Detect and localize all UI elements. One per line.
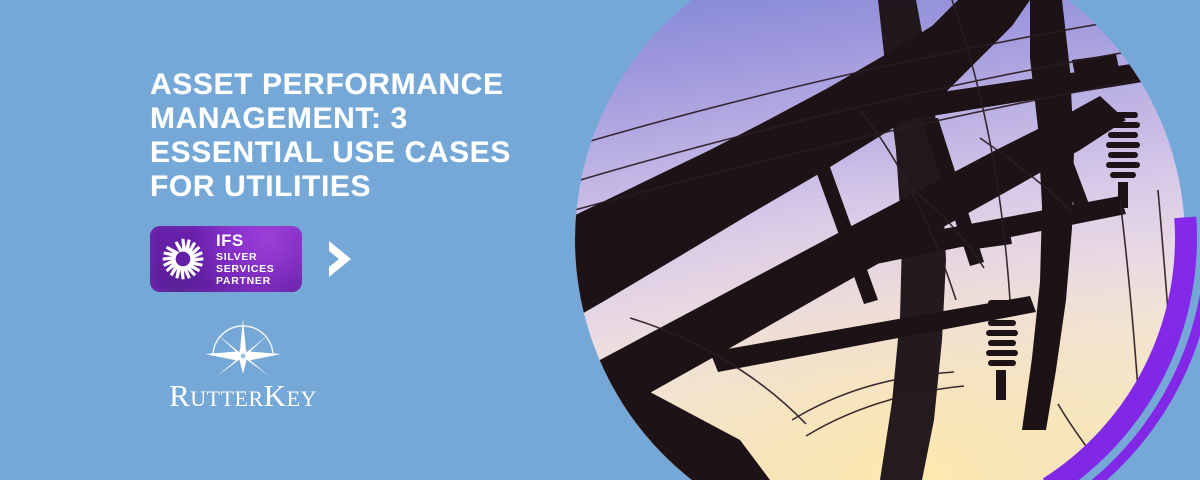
rk-letter-r: R [169, 378, 190, 413]
content-region: Asset Performance Management: 3 Essentia… [0, 0, 600, 480]
chevron-right-icon[interactable] [324, 237, 358, 281]
ifs-badge-text: IFS SILVER SERVICES PARTNER [216, 232, 275, 287]
photo-content [560, 0, 1200, 480]
compass-rose-icon [197, 318, 289, 380]
marketing-banner: Asset Performance Management: 3 Essentia… [0, 0, 1200, 480]
partner-badge-row: IFS SILVER SERVICES PARTNER [150, 226, 358, 292]
ifs-silver-services-partner-badge[interactable]: IFS SILVER SERVICES PARTNER [150, 226, 302, 292]
rk-utter: UTTER [190, 386, 263, 411]
rutterkey-logo[interactable]: RUTTERKEY [168, 318, 318, 414]
rk-letter-k: K [264, 378, 287, 413]
ifs-tier-label: SILVER [216, 252, 275, 263]
transmission-tower-photo [560, 0, 1200, 480]
ifs-partner-label: PARTNER [216, 276, 275, 287]
ifs-services-label: SERVICES [216, 264, 275, 275]
rutterkey-wordmark: RUTTERKEY [168, 378, 318, 414]
rk-ey: EY [287, 386, 317, 411]
ifs-brand-label: IFS [216, 232, 275, 249]
page-title: Asset Performance Management: 3 Essentia… [150, 68, 550, 204]
ifs-pinwheel-icon [159, 235, 207, 283]
hero-image-region [560, 0, 1200, 480]
